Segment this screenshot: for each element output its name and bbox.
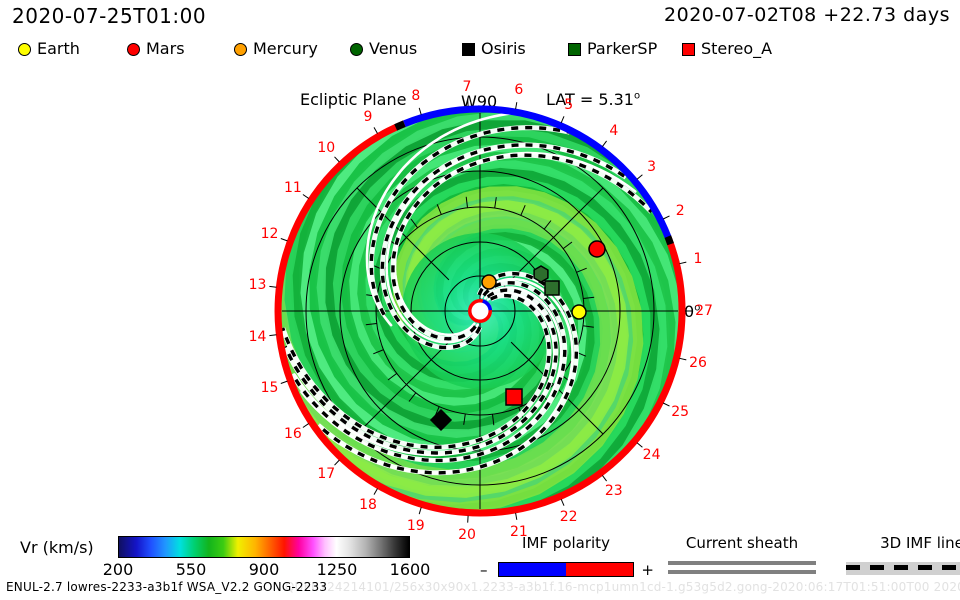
carrington-tick-label-24: 24 bbox=[643, 448, 661, 462]
colorbar-tick-900: 900 bbox=[249, 560, 280, 579]
carrington-tick-label-2: 2 bbox=[676, 204, 685, 218]
legend-label-osiris: Osiris bbox=[481, 41, 526, 57]
carrington-tick-label-9: 9 bbox=[364, 110, 373, 124]
legend-entry-venus[interactable]: Venus bbox=[350, 38, 417, 60]
legend-label-earth: Earth bbox=[37, 41, 80, 57]
carrington-tick-label-14: 14 bbox=[249, 330, 267, 344]
legend-label-mars: Mars bbox=[146, 41, 185, 57]
watermark-text: QUE0724214101/256x30x90x1.2233-a3b1f.16-… bbox=[285, 580, 960, 594]
carrington-tick-label-3: 3 bbox=[647, 160, 656, 174]
model-run-id-label: ENUL-2.7 lowres-2233-a3b1f WSA_V2.2 GONG… bbox=[6, 580, 327, 594]
sheath-line-lower bbox=[668, 570, 816, 574]
imf-polarity-title: IMF polarity bbox=[498, 534, 634, 552]
colorbar-tick-1600: 1600 bbox=[390, 560, 431, 579]
carrington-tick-label-26: 26 bbox=[689, 356, 707, 370]
carrington-tick-label-11: 11 bbox=[284, 181, 302, 195]
polarity-minus-label: – bbox=[480, 561, 488, 579]
carrington-tick-label-15: 15 bbox=[261, 381, 279, 395]
carrington-tick-label-18: 18 bbox=[359, 498, 377, 512]
imf-line-legend: 3D IMF line bbox=[846, 534, 960, 578]
ecliptic-plane-plot: Ecliptic Plane LAT = 5.31o W90 E90 0o bbox=[0, 62, 960, 530]
legend-entry-parkersp[interactable]: ParkerSP bbox=[568, 38, 657, 60]
carrington-tick-label-1: 1 bbox=[694, 252, 703, 266]
footer-legends: Vr (km/s) 20055090012501600 IMF polarity… bbox=[0, 530, 960, 600]
current-sheath-legend: Current sheath bbox=[668, 534, 816, 578]
carrington-tick-label-6: 6 bbox=[514, 83, 523, 97]
legend-entry-osiris[interactable]: Osiris bbox=[462, 38, 526, 60]
legend-entry-mercury[interactable]: Mercury bbox=[234, 38, 318, 60]
colorbar-tick-550: 550 bbox=[176, 560, 207, 579]
legend-label-mercury: Mercury bbox=[253, 41, 318, 57]
colorbar-tick-labels: 20055090012501600 bbox=[118, 530, 410, 580]
header-bar: 2020-07-25T01:00 2020-07-02T08 +22.73 da… bbox=[0, 0, 960, 34]
imf-line-title: 3D IMF line bbox=[846, 534, 960, 552]
carrington-tick-numbers: 1234567891011121314151617181920212223242… bbox=[0, 62, 960, 530]
legend-label-parkersp: ParkerSP bbox=[587, 41, 657, 57]
carrington-tick-label-16: 16 bbox=[284, 427, 302, 441]
colorbar-tick-1250: 1250 bbox=[317, 560, 358, 579]
carrington-tick-label-13: 13 bbox=[249, 278, 267, 292]
carrington-tick-label-7: 7 bbox=[463, 80, 472, 94]
carrington-tick-label-12: 12 bbox=[261, 227, 279, 241]
legend-marker-osiris-icon bbox=[462, 43, 475, 56]
legend-marker-stereo_a-icon bbox=[682, 43, 695, 56]
carrington-tick-label-22: 22 bbox=[560, 510, 578, 524]
carrington-tick-label-27: 27 bbox=[695, 304, 713, 318]
carrington-tick-label-23: 23 bbox=[605, 484, 623, 498]
legend-label-stereo_a: Stereo_A bbox=[701, 41, 772, 57]
sheath-line-upper bbox=[668, 561, 816, 565]
polarity-plus-label: + bbox=[641, 561, 654, 579]
carrington-tick-label-17: 17 bbox=[317, 467, 335, 481]
imf-polarity-legend: IMF polarity – + bbox=[498, 534, 634, 578]
legend-label-venus: Venus bbox=[369, 41, 417, 57]
polarity-color-bar bbox=[498, 562, 634, 577]
carrington-tick-label-4: 4 bbox=[609, 124, 618, 138]
body-legend: EarthMarsMercuryVenusOsirisParkerSPStere… bbox=[10, 38, 950, 60]
legend-entry-mars[interactable]: Mars bbox=[127, 38, 185, 60]
colorbar-label: Vr (km/s) bbox=[20, 538, 94, 557]
legend-marker-mercury-icon bbox=[234, 43, 247, 56]
legend-marker-earth-icon bbox=[18, 43, 31, 56]
current-sheath-title: Current sheath bbox=[668, 534, 816, 552]
carrington-tick-label-5: 5 bbox=[564, 98, 573, 112]
colorbar-tick-200: 200 bbox=[103, 560, 134, 579]
legend-entry-stereo_a[interactable]: Stereo_A bbox=[682, 38, 772, 60]
carrington-tick-label-10: 10 bbox=[317, 141, 335, 155]
run-start-offset-label: 2020-07-02T08 +22.73 days bbox=[664, 4, 950, 26]
imf-line-dashes bbox=[846, 565, 960, 570]
legend-marker-venus-icon bbox=[350, 43, 363, 56]
current-timestamp-label: 2020-07-25T01:00 bbox=[12, 4, 206, 28]
carrington-tick-label-8: 8 bbox=[411, 89, 420, 103]
legend-marker-mars-icon bbox=[127, 43, 140, 56]
legend-marker-parkersp-icon bbox=[568, 43, 581, 56]
carrington-tick-label-25: 25 bbox=[671, 405, 689, 419]
legend-entry-earth[interactable]: Earth bbox=[18, 38, 80, 60]
